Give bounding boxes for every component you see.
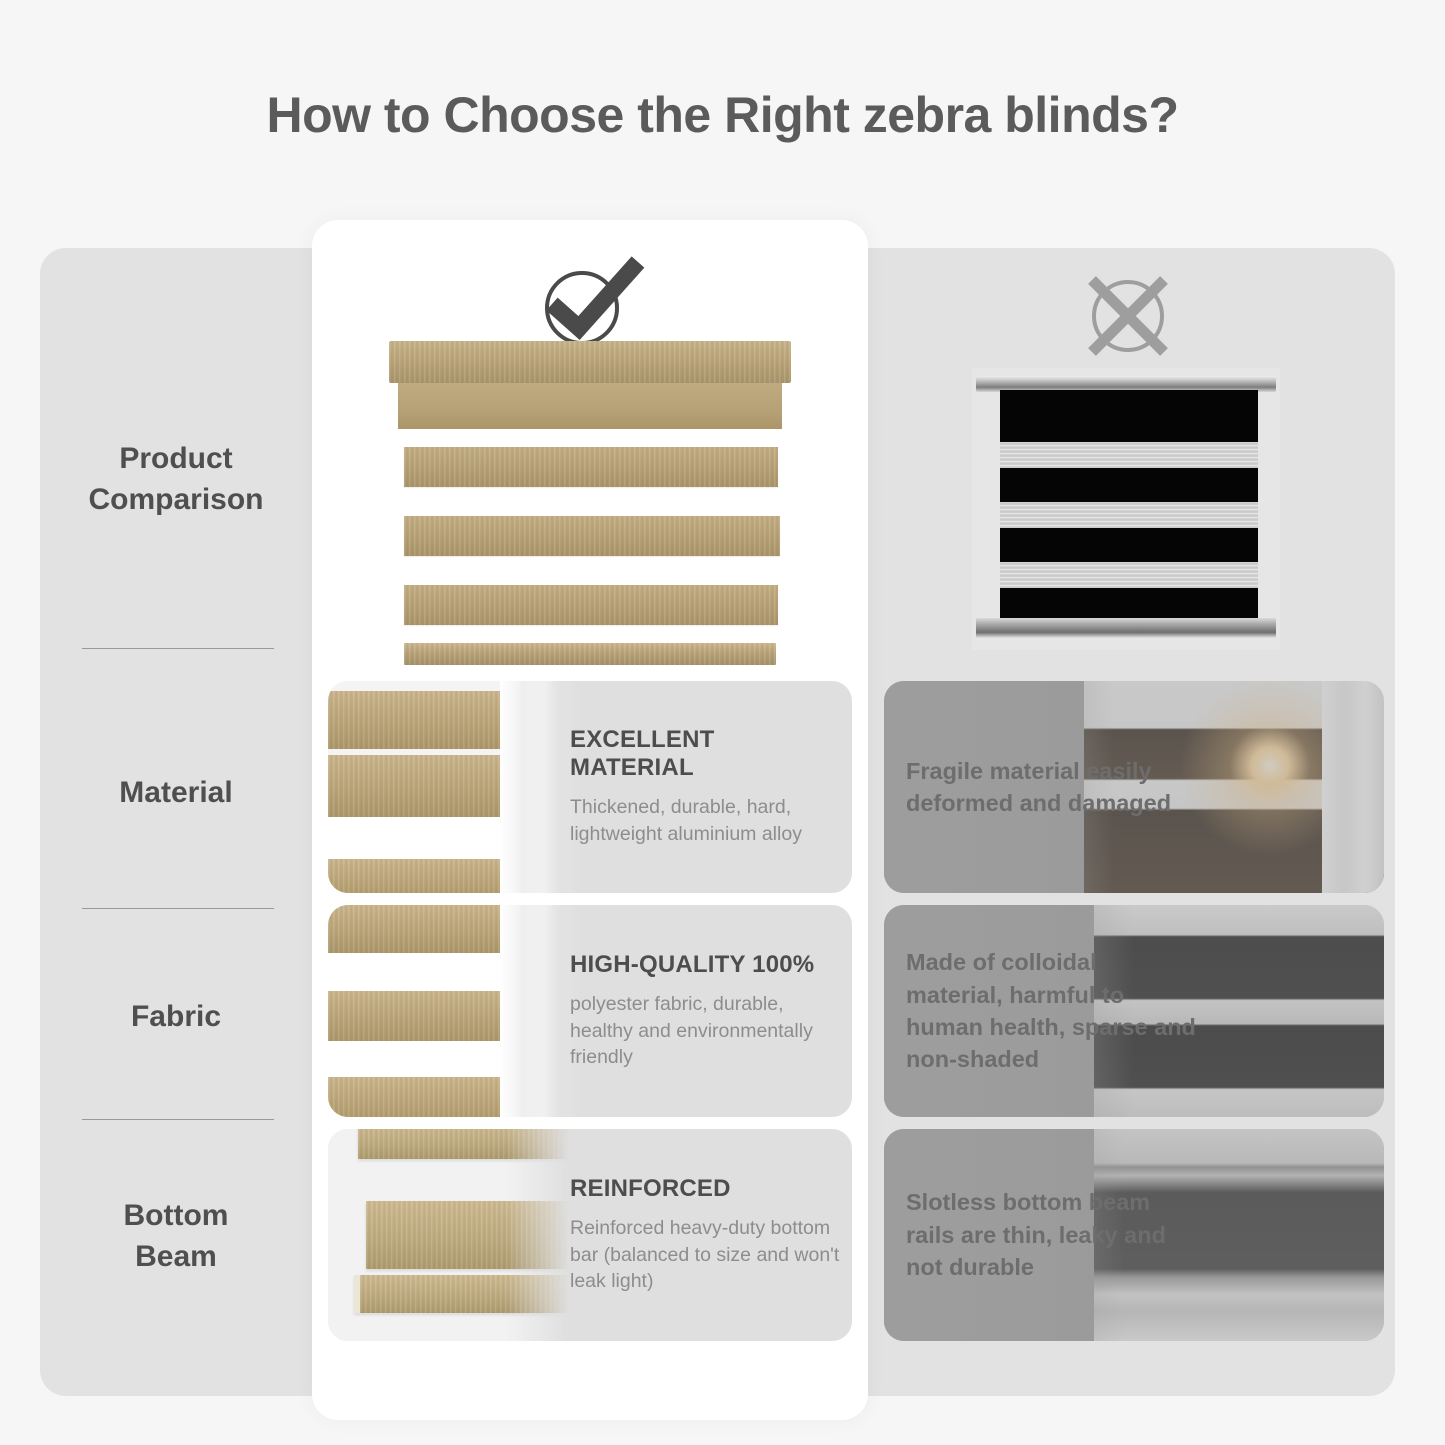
bottom-beam-good-card: REINFORCED Reinforced heavy-duty bottom … xyxy=(328,1129,852,1341)
blind-band xyxy=(404,447,778,487)
infographic-page: How to Choose the Right zebra blinds? Pr… xyxy=(0,0,1445,1445)
material-bad-label: Fragile material easily deformed and dam… xyxy=(906,755,1196,820)
blind-bottom-bar xyxy=(976,618,1276,638)
material-good-card: EXCELLENT MATERIAL Thickened, durable, h… xyxy=(328,681,852,893)
material-good-text: EXCELLENT MATERIAL Thickened, durable, h… xyxy=(570,681,842,893)
bottom-beam-good-heading: REINFORCED xyxy=(570,1175,842,1203)
bottom-beam-bad-card: Slotless bottom beam rails are thin, lea… xyxy=(884,1129,1384,1341)
row-label-line1: Bottom xyxy=(40,1195,312,1236)
fabric-bad-card: Made of colloidal material, harmful to h… xyxy=(884,905,1384,1117)
row-label-bottom-beam: Bottom Beam xyxy=(40,1195,312,1278)
blind-bottom-bar xyxy=(404,643,776,665)
blind-headrail xyxy=(389,341,791,383)
fabric-bad-label: Made of colloidal material, harmful to h… xyxy=(906,946,1196,1076)
check-circle-icon xyxy=(530,252,650,352)
bottom-beam-bad-text: Slotless bottom beam rails are thin, lea… xyxy=(906,1129,1196,1341)
fabric-bad-text: Made of colloidal material, harmful to h… xyxy=(906,905,1196,1117)
bottom-beam-good-text: REINFORCED Reinforced heavy-duty bottom … xyxy=(570,1129,842,1341)
row-divider-3 xyxy=(82,1119,274,1120)
blind-band xyxy=(404,516,780,556)
row-label-material: Material xyxy=(40,772,312,813)
row-label-fabric: Fabric xyxy=(40,996,312,1037)
black-zebra-blind-image xyxy=(972,368,1280,650)
blind-band xyxy=(404,585,778,625)
beige-zebra-blind-image xyxy=(389,341,791,671)
fabric-good-text: HIGH-QUALITY 100% polyester fabric, dura… xyxy=(570,905,842,1117)
bottom-beam-good-body: Reinforced heavy-duty bottom bar (balanc… xyxy=(570,1215,842,1296)
material-bad-card: Fragile material easily deformed and dam… xyxy=(884,681,1384,893)
row-label-column: Product Comparison Material Fabric Botto… xyxy=(40,248,312,1396)
row-divider-2 xyxy=(82,908,274,909)
material-bad-text: Fragile material easily deformed and dam… xyxy=(906,681,1196,893)
row-divider-1 xyxy=(82,648,274,649)
row-label-product-comparison: Product Comparison xyxy=(40,438,312,521)
fabric-good-heading: HIGH-QUALITY 100% xyxy=(570,951,842,979)
bottom-beam-bad-label: Slotless bottom beam rails are thin, lea… xyxy=(906,1186,1196,1283)
blind-fabric xyxy=(1000,390,1258,620)
material-good-body: Thickened, durable, hard, lightweight al… xyxy=(570,794,842,848)
row-label-line1: Product xyxy=(40,438,312,479)
fabric-good-card: HIGH-QUALITY 100% polyester fabric, dura… xyxy=(328,905,852,1117)
row-label-line2: Comparison xyxy=(40,479,312,520)
page-title: How to Choose the Right zebra blinds? xyxy=(0,86,1445,144)
fabric-good-body: polyester fabric, durable, healthy and e… xyxy=(570,991,842,1072)
row-label-line2: Beam xyxy=(40,1236,312,1277)
material-good-heading: EXCELLENT MATERIAL xyxy=(570,726,842,782)
cross-circle-icon xyxy=(1078,268,1178,364)
